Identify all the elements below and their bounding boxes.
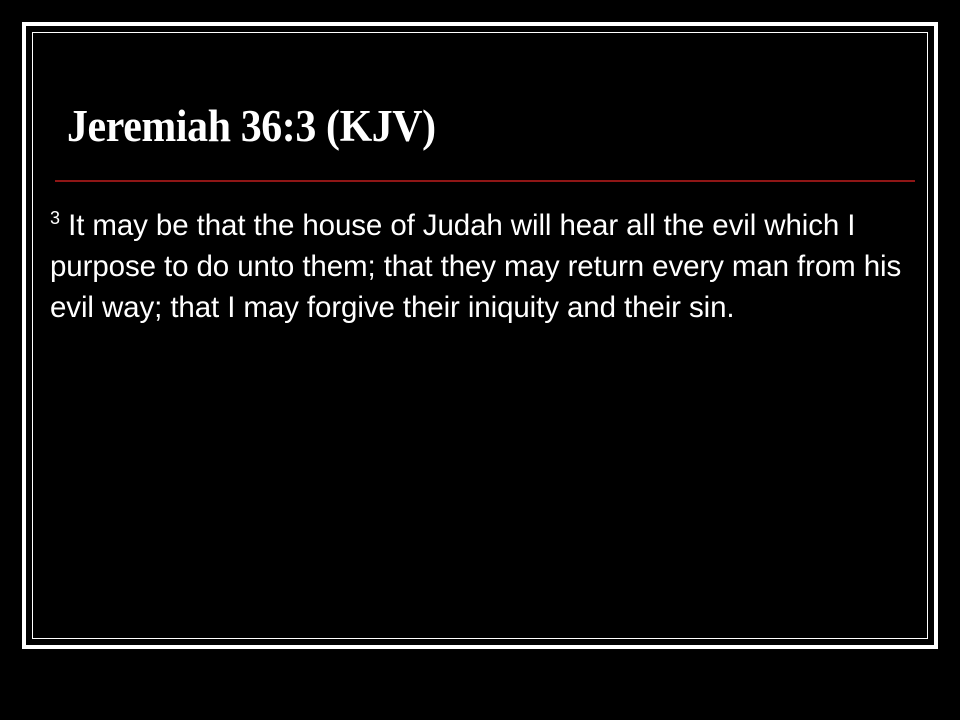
slide-content-area: Jeremiah 36:3 (KJV) 3 It may be that the…	[33, 33, 927, 638]
title-divider-rule	[55, 180, 915, 182]
verse-text: It may be that the house of Judah will h…	[50, 209, 901, 324]
verse-number: 3	[50, 208, 60, 228]
verse-body-text: 3 It may be that the house of Judah will…	[50, 205, 910, 328]
scripture-slide: Jeremiah 36:3 (KJV) 3 It may be that the…	[0, 0, 960, 720]
page-title: Jeremiah 36:3 (KJV)	[67, 103, 436, 150]
